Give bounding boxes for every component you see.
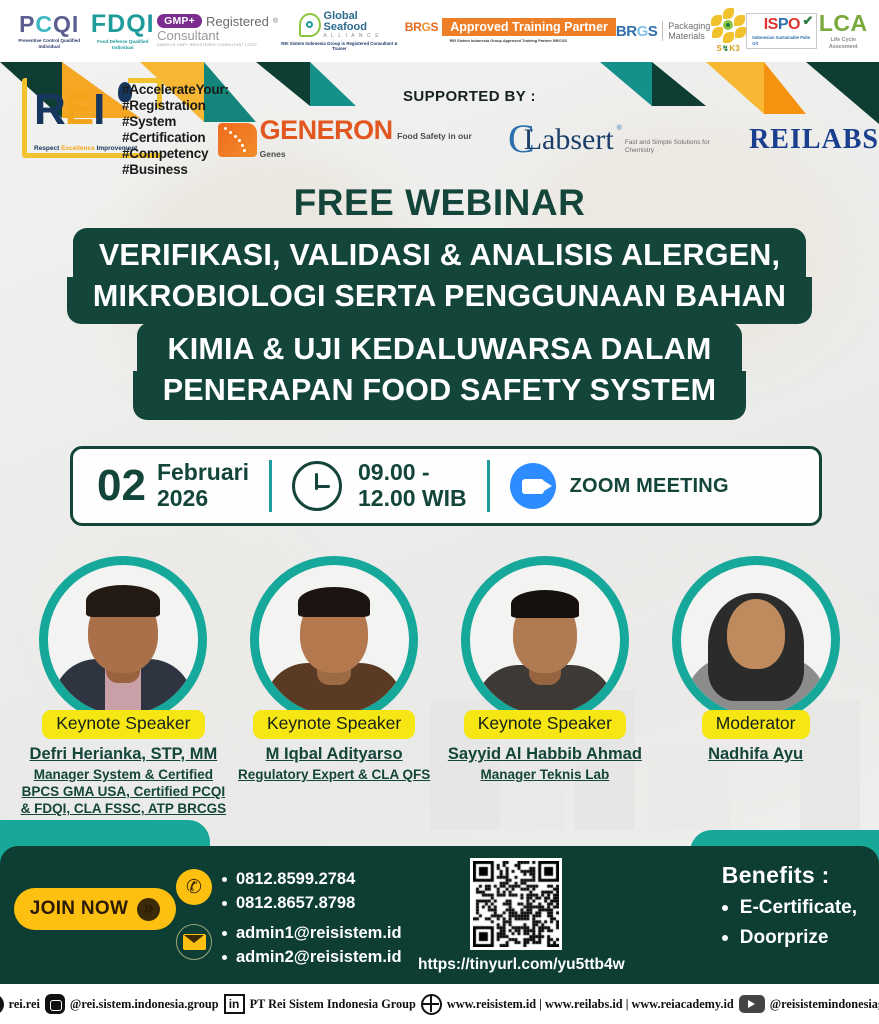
speaker-badge: Keynote Speaker	[253, 710, 415, 739]
logo-gmp-plus: GMP+ Registered® Consultant AIMED IN GMP…	[157, 14, 278, 48]
youtube-handle[interactable]: @reisistemindonesiagrp	[770, 997, 879, 1012]
gmp-registered-label: Registered	[206, 15, 269, 28]
seafood-fish-icon	[299, 13, 321, 37]
hashtags-block: #AccelerateYour: #Registration #System #…	[122, 82, 229, 178]
avatar	[461, 556, 629, 724]
logo-fdqi: FDQI Food Defense Qualified Individual	[88, 12, 157, 50]
labsert-tagline: Fast and Simple Solutions for Chemistry	[625, 139, 733, 156]
linkedin-handle[interactable]: PT Rei Sistem Indonesia Group	[250, 997, 416, 1012]
event-time: 09.00 - 12.00 WIB	[292, 449, 467, 523]
decor-triangle	[600, 62, 652, 106]
social-bar: f rei.rei @rei.sistem.indonesia.group in…	[0, 984, 879, 1024]
event-month: Februari	[157, 459, 249, 485]
rei-letters: REI	[34, 88, 104, 132]
webinar-poster: PCQI Preventive Control Qualified Indivi…	[0, 0, 879, 1024]
sipkb-flower-icon	[710, 8, 746, 42]
hashtag-registration: #Registration	[122, 98, 229, 114]
fdqi-subtitle: Food Defense Qualified Individual	[88, 39, 157, 50]
instagram-icon[interactable]	[45, 994, 65, 1014]
facebook-handle[interactable]: rei.rei	[9, 997, 40, 1012]
speaker-badge: Keynote Speaker	[464, 710, 626, 739]
speaker-role: Manager Teknis Lab	[480, 766, 609, 783]
hashtag-business: #Business	[122, 162, 229, 178]
join-now-label: JOIN NOW	[30, 898, 128, 920]
logo-generon: GENERON Food Safety in our Genes	[218, 118, 492, 162]
phone-number[interactable]: 0812.8657.8798	[222, 892, 355, 916]
gsa-line2: Seafood	[324, 22, 381, 33]
phone-icon: ✆	[176, 869, 212, 905]
eyebrow-free-webinar: FREE WEBINAR	[0, 182, 879, 224]
event-day: 02	[73, 464, 146, 508]
generon-wordmark: GENERON	[260, 115, 393, 145]
decor-triangle	[706, 62, 764, 114]
globe-icon[interactable]	[421, 994, 442, 1015]
event-month-year: Februari 2026	[157, 460, 249, 512]
speaker-card: Keynote Speaker Sayyid Al Habbib Ahmad M…	[440, 556, 651, 826]
decor-triangle	[310, 62, 356, 106]
title-line-3: KIMIA & UJI KEDALUWARSA DALAM	[137, 322, 741, 371]
title-line-2: MIKROBIOLOGI SERTA PENGGUNAAN BAHAN	[67, 277, 812, 324]
sipkb-wordmark: S↯K3	[717, 44, 740, 54]
event-year: 2026	[157, 485, 208, 511]
gsa-subtitle: REI Sistem Indonesia Group is Registered…	[278, 41, 401, 52]
speaker-badge: Moderator	[702, 710, 810, 739]
speaker-name: Sayyid Al Habbib Ahmad	[448, 745, 642, 765]
webinar-title: VERIFIKASI, VALIDASI & ANALISIS ALERGEN,…	[0, 228, 879, 420]
certification-logo-strip: PCQI Preventive Control Qualified Indivi…	[0, 0, 879, 62]
event-time-line2: 12.00 WIB	[358, 485, 467, 511]
speaker-card: Moderator Nadhifa Ayu	[650, 556, 861, 826]
decor-triangle	[652, 62, 706, 106]
registered-trademark-icon: ®	[617, 125, 622, 132]
email-address[interactable]: admin2@reisistem.id	[222, 946, 402, 970]
brcgs-mark: BRGS	[401, 18, 443, 37]
title-line-1: VERIFIKASI, VALIDASI & ANALISIS ALERGEN,	[73, 228, 806, 277]
speaker-badge: Keynote Speaker	[42, 710, 204, 739]
atp-subtitle: REI Sistem Indonesia Group Approved Trai…	[450, 39, 567, 44]
logo-sipkb: S↯K3	[710, 8, 746, 54]
benefit-item: Doorprize	[722, 927, 857, 949]
phone-list: 0812.8599.2784 0812.8657.8798	[222, 868, 355, 916]
website-list[interactable]: www.reisistem.id | www.reilabs.id | www.…	[447, 997, 734, 1012]
benefits-block: Benefits : E-Certificate, Doorprize	[722, 862, 857, 949]
event-date: 02 Februari 2026	[73, 449, 249, 523]
youtube-icon[interactable]	[739, 995, 765, 1013]
lca-wordmark: LCA	[819, 12, 868, 35]
check-icon: ✔	[803, 14, 814, 27]
contact-footer: JOIN NOW » ✆ 0812.8599.2784 0812.8657.87…	[0, 846, 879, 984]
speaker-role: Manager System & Certified BPCS GMA USA,…	[18, 766, 229, 818]
phone-number[interactable]: 0812.8599.2784	[222, 868, 355, 892]
benefits-title: Benefits :	[722, 862, 857, 889]
packaging-line2: Materials	[668, 31, 705, 41]
event-time-line1: 09.00 -	[358, 459, 430, 485]
gmp-consultant-label: Consultant	[157, 29, 219, 42]
speaker-list: Keynote Speaker Defri Herianka, STP, MM …	[0, 556, 879, 826]
brcgs-packaging-mark: BRGS	[616, 24, 657, 39]
hashtag-accelerate: #AccelerateYour:	[122, 82, 229, 98]
speaker-card: Keynote Speaker Defri Herianka, STP, MM …	[18, 556, 229, 826]
linkedin-icon[interactable]: in	[224, 994, 245, 1014]
logo-labsert: C Labsert® Fast and Simple Solutions for…	[508, 125, 733, 156]
platform-label: ZOOM MEETING	[570, 475, 729, 498]
sponsor-logos: GENERON Food Safety in our Genes C Labse…	[218, 118, 879, 162]
speaker-name: Defri Herianka, STP, MM	[30, 745, 218, 765]
title-line-4: PENERAPAN FOOD SAFETY SYSTEM	[133, 371, 747, 420]
speaker-card: Keynote Speaker M Iqbal Adityarso Regula…	[229, 556, 440, 826]
gmp-badge: GMP+	[157, 14, 202, 29]
event-time-text: 09.00 - 12.00 WIB	[358, 460, 467, 512]
gsa-line3: A L L I A N C E	[324, 34, 381, 39]
decor-triangle	[806, 62, 879, 124]
qr-code[interactable]	[470, 858, 562, 950]
divider	[487, 460, 490, 512]
logo-lca: LCA Life Cycle Assesment	[817, 12, 869, 51]
fdqi-wordmark: FDQI	[91, 12, 155, 37]
hashtag-competency: #Competency	[122, 146, 229, 162]
zoom-camera-icon	[510, 463, 556, 509]
event-platform: ZOOM MEETING	[510, 449, 729, 523]
speaker-role: Regulatory Expert & CLA QFS	[238, 766, 430, 783]
hashtag-certification: #Certification	[122, 130, 229, 146]
speaker-name: Nadhifa Ayu	[708, 745, 803, 765]
mail-icon	[176, 924, 212, 960]
join-now-button[interactable]: JOIN NOW »	[14, 888, 176, 930]
logo-brcgs-packaging: BRGS Packaging Materials	[616, 21, 710, 42]
registration-url[interactable]: https://tinyurl.com/yu5ttb4w	[418, 956, 625, 974]
benefit-item: E-Certificate,	[722, 897, 857, 919]
event-details-bar: 02 Februari 2026 09.00 - 12.00 WIB ZOOM …	[70, 446, 822, 526]
gsa-line1: Global	[324, 11, 381, 22]
hashtag-system: #System	[122, 114, 229, 130]
labsert-wordmark: Labsert	[524, 125, 614, 155]
lca-subtitle: Life Cycle Assesment	[817, 37, 869, 51]
email-list: admin1@reisistem.id admin2@reisistem.id	[222, 922, 402, 970]
logo-pcqi: PCQI Preventive Control Qualified Indivi…	[10, 13, 88, 49]
pcqi-wordmark: PCQI	[19, 13, 79, 36]
generon-mark-icon	[218, 123, 257, 157]
avatar	[39, 556, 207, 724]
facebook-icon[interactable]: f	[0, 994, 4, 1015]
instagram-handle[interactable]: @rei.sistem.indonesia.group	[70, 997, 219, 1012]
avatar	[672, 556, 840, 724]
avatar	[250, 556, 418, 724]
ispo-subtitle: Indonesian Sustainable Palm Oil	[752, 35, 811, 47]
email-address[interactable]: admin1@reisistem.id	[222, 922, 402, 946]
logo-ispo: ✔ ISPO Indonesian Sustainable Palm Oil	[746, 13, 817, 50]
clock-icon	[292, 461, 342, 511]
chevron-right-icon: »	[137, 898, 160, 921]
logo-reilabs: REILABS	[749, 124, 879, 156]
gmp-fineprint: AIMED IN GMP+ REGISTERED CONSULTANT LOGO	[157, 44, 257, 48]
supported-by-label: SUPPORTED BY :	[403, 88, 536, 105]
logo-brcgs-atp: BRGS Approved Training Partner REI Siste…	[401, 18, 616, 44]
packaging-line1: Packaging	[668, 21, 710, 31]
atp-label: Approved Training Partner	[442, 18, 616, 37]
divider	[269, 460, 272, 512]
pcqi-subtitle: Preventive Control Qualified Individual	[10, 38, 88, 49]
logo-global-seafood-alliance: Global Seafood A L L I A N C E REI Siste…	[278, 11, 401, 52]
decor-triangle	[256, 62, 310, 106]
speaker-name: M Iqbal Adityarso	[266, 745, 403, 765]
decor-triangle	[764, 62, 806, 114]
